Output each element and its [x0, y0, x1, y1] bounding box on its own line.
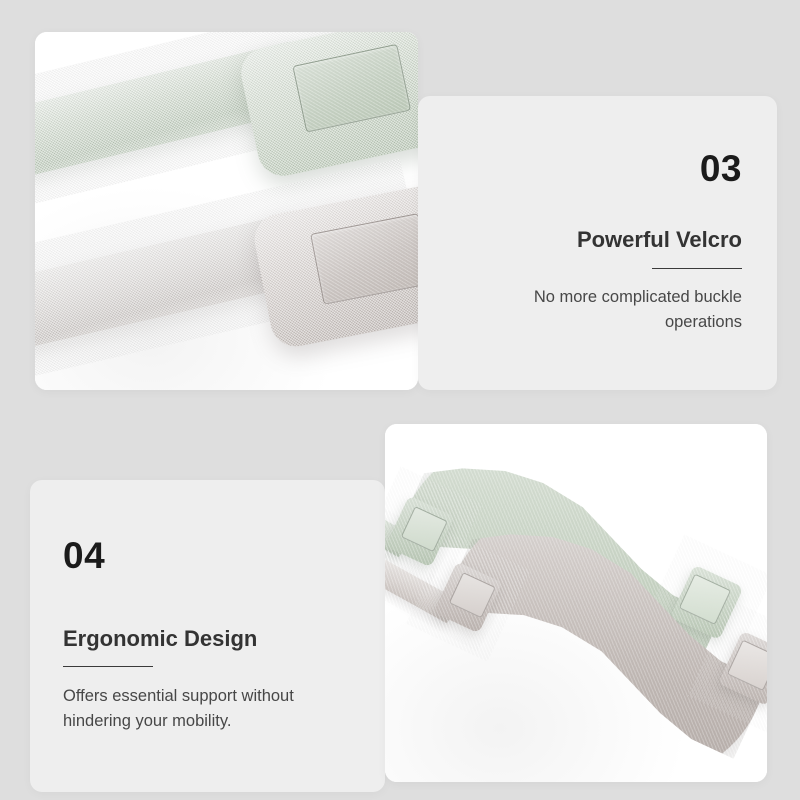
feature-text-block: 04 Ergonomic Design Offers essential sup…: [30, 480, 385, 792]
feature-divider: [63, 666, 153, 667]
feature-text-block: 03 Powerful Velcro No more complicated b…: [418, 96, 777, 390]
velcro-texture: [310, 213, 418, 305]
product-feature-collage: 03 Powerful Velcro No more complicated b…: [0, 0, 800, 800]
feature-divider: [652, 268, 742, 269]
gray-velcro-patch: [310, 213, 418, 305]
feature-title: Ergonomic Design: [63, 626, 257, 652]
feature-card-ergonomic: 04 Ergonomic Design Offers essential sup…: [30, 480, 385, 792]
feature-description: No more complicated buckle operations: [457, 285, 742, 336]
photo-backdrop-belts: [385, 424, 767, 782]
feature-title: Powerful Velcro: [577, 227, 742, 253]
photo-card-velcro-closeup: [35, 32, 418, 390]
feature-number: 04: [63, 537, 105, 574]
feature-number: 03: [700, 150, 742, 187]
feature-card-velcro: 03 Powerful Velcro No more complicated b…: [418, 96, 777, 390]
photo-backdrop-velcro: [35, 32, 418, 390]
green-padded-cuff: [236, 32, 418, 181]
green-velcro-patch: [292, 44, 411, 133]
gray-padded-cuff: [250, 177, 418, 351]
photo-card-ergonomic-belts: [385, 424, 767, 782]
feature-description: Offers essential support without hinderi…: [63, 684, 348, 735]
velcro-texture: [292, 44, 411, 133]
